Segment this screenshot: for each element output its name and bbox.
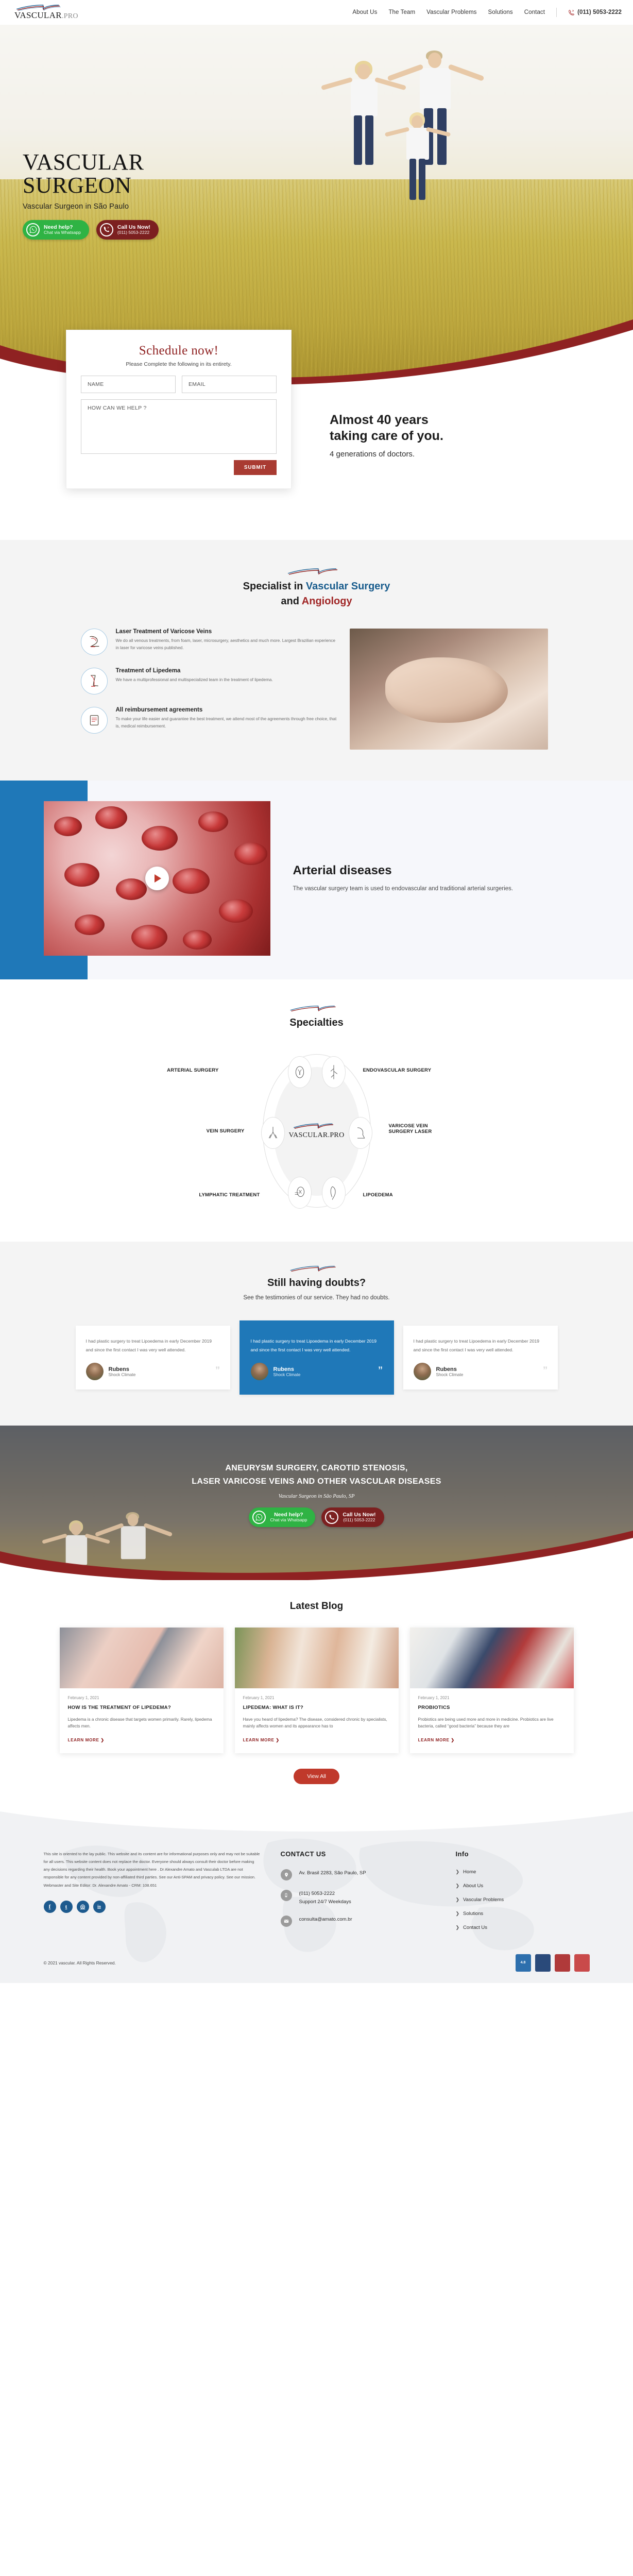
- testimonial-identity: Rubens Shock Climate: [436, 1366, 464, 1377]
- footer-disclaimer: This site is oriented to the lay public.…: [44, 1850, 260, 1889]
- specialty-node-lymphatic[interactable]: [288, 1177, 312, 1209]
- specialty-node-endovascular[interactable]: [322, 1056, 346, 1088]
- hero-title: VASCULAR SURGEON: [23, 151, 159, 197]
- specialties-swoosh-wrap: [0, 1005, 633, 1013]
- blog-card-date: February 1, 2021: [68, 1696, 215, 1700]
- footer-address: Av. Brasil 2283, São Paulo, SP: [299, 1869, 366, 1877]
- arterial-text: Arterial diseases The vascular surgery t…: [293, 863, 514, 893]
- blog-card[interactable]: February 1, 2021 LIPEDEMA: WHAT IS IT? H…: [235, 1628, 399, 1753]
- footer-link-about-us[interactable]: ❯About Us: [456, 1883, 559, 1889]
- arterial-title: Arterial diseases: [293, 863, 514, 878]
- testimonial-footer: Rubens Shock Climate ”: [414, 1363, 548, 1380]
- testimonials-carousel: I had plastic surgery to treat Lipoedema…: [70, 1320, 564, 1395]
- specialist-item-title: All reimbursement agreements: [116, 707, 337, 713]
- specialist-list: Laser Treatment of Varicose Veins We do …: [70, 629, 337, 746]
- specialty-label-varicose: VARICOSE VEIN SURGERY LASER: [389, 1123, 507, 1134]
- footer-phone-sub: Support 24/7 Weekdays: [299, 1898, 351, 1906]
- years-block: Almost 40 years taking care of you. 4 ge…: [330, 412, 443, 459]
- cta-bottom-curve: [0, 1524, 633, 1580]
- specialist-item-title: Treatment of Lipedema: [116, 668, 273, 674]
- header-phone-text: (011) 5053-2222: [577, 9, 622, 15]
- nav-item-vascular-problems[interactable]: Vascular Problems: [426, 9, 476, 15]
- years-heading-line2: taking care of you.: [330, 428, 443, 444]
- blog-card[interactable]: February 1, 2021 PROBIOTICS Probiotics a…: [410, 1628, 574, 1753]
- whatsapp-icon: [26, 223, 40, 236]
- wheel-center-logo: VASCULAR.PRO: [273, 1067, 360, 1196]
- quote-mark-icon: ”: [543, 1365, 548, 1378]
- facebook-icon[interactable]: f: [44, 1901, 56, 1913]
- specialist-heading-blue: Vascular Surgery: [306, 581, 390, 592]
- nav-item-solutions[interactable]: Solutions: [488, 9, 513, 15]
- whatsapp-button[interactable]: Need help? Chat via Whatsapp: [23, 220, 89, 240]
- cta-banner: ANEURYSM SURGERY, CAROTID STENOSIS, LASE…: [0, 1426, 633, 1580]
- phone-ringing-icon: [100, 223, 113, 236]
- specialist-item-reimbursement[interactable]: All reimbursement agreements To make you…: [81, 707, 337, 734]
- certification-seal-3: [574, 1954, 590, 1972]
- hero-family-photo: [334, 45, 551, 251]
- nav-divider: [556, 8, 557, 17]
- phone-ringing-icon: [325, 1511, 338, 1524]
- testimonial-footer: Rubens Shock Climate ”: [251, 1363, 383, 1380]
- whatsapp-button-labels: Need help? Chat via Whatsapp: [44, 224, 81, 235]
- blog-card-learn-more[interactable]: LEARN MORE ❯: [68, 1737, 105, 1742]
- whatsapp-icon: [252, 1511, 266, 1524]
- form-actions: SUBMIT: [81, 460, 277, 475]
- testimonials-subtitle: See the testimonies of our service. They…: [0, 1295, 633, 1301]
- footer-info-heading: Info: [456, 1850, 559, 1858]
- specialty-label-vein: VEIN SURGERY: [126, 1128, 245, 1134]
- swoosh-icon: [288, 1265, 345, 1274]
- specialty-node-arterial[interactable]: [288, 1056, 312, 1088]
- footer-info: Info ❯Home ❯About Us ❯Vascular Problems …: [456, 1850, 559, 1939]
- site-header: VASCULAR.PRO About Us The Team Vascular …: [0, 0, 633, 25]
- years-heading-line1: Almost 40 years: [330, 412, 443, 428]
- specialist-heading-line2: and Angiology: [0, 594, 633, 609]
- footer-email[interactable]: consulta@amato.com.br: [299, 1916, 352, 1924]
- mobile-icon: [281, 1890, 292, 1901]
- logo-text: VASCULAR.PRO: [14, 11, 78, 20]
- specialties-section: Specialties VASCULAR.PRO ARTERIAL SURGER…: [0, 979, 633, 1242]
- blog-card-body: February 1, 2021 LIPEDEMA: WHAT IS IT? H…: [235, 1688, 399, 1753]
- chevron-right-icon: ❯: [456, 1869, 460, 1875]
- cta-whatsapp-labels: Need help? Chat via Whatsapp: [270, 1512, 307, 1523]
- blog-card-body: February 1, 2021 PROBIOTICS Probiotics a…: [410, 1688, 574, 1753]
- blog-card-date: February 1, 2021: [418, 1696, 566, 1700]
- footer-contact: CONTACT US Av. Brasil 2283, São Paulo, S…: [281, 1850, 435, 1939]
- specialty-label-varicose-line1: VARICOSE VEIN: [389, 1123, 507, 1129]
- testimonial-quote: I had plastic surgery to treat Lipoedema…: [86, 1337, 220, 1354]
- testimonial-identity: Rubens Shock Climate: [273, 1366, 301, 1377]
- main-nav: About Us The Team Vascular Problems Solu…: [352, 8, 622, 17]
- cta-call-button[interactable]: Call Us Now! (011) 5053-2222: [321, 1507, 384, 1527]
- section-swoosh-wrap: [0, 568, 633, 577]
- specialty-label-endovascular: ENDOVASCULAR SURGERY: [363, 1067, 497, 1073]
- footer-link-home[interactable]: ❯Home: [456, 1869, 559, 1875]
- specialty-node-varicose[interactable]: [349, 1117, 372, 1149]
- blog-actions: View All: [0, 1769, 633, 1784]
- cta-subtitle: Vascular Surgeon in São Paulo, SP: [0, 1494, 633, 1499]
- blog-section: Latest Blog February 1, 2021 HOW IS THE …: [0, 1580, 633, 1806]
- cta-heading-line2: LASER VARICOSE VEINS AND OTHER VASCULAR …: [0, 1475, 633, 1488]
- footer-bottom: © 2021 vascular. All Rights Reserved. 4.…: [44, 1954, 590, 1983]
- lipedema-leg-icon: [81, 668, 108, 694]
- chevron-right-icon: ❯: [456, 1883, 460, 1889]
- submit-button[interactable]: SUBMIT: [234, 460, 277, 475]
- phone-ringing-icon: [568, 9, 575, 16]
- agreement-icon: [81, 707, 108, 734]
- nav-item-the-team[interactable]: The Team: [388, 9, 415, 15]
- testimonial-role: Shock Climate: [273, 1372, 301, 1377]
- email-input[interactable]: EMAIL: [182, 376, 277, 393]
- specialty-label-lipoedema: LIPOEDEMA: [363, 1192, 466, 1198]
- cta-whatsapp-button[interactable]: Need help? Chat via Whatsapp: [249, 1507, 315, 1527]
- call-button[interactable]: Call Us Now! (011) 5053-2222: [96, 220, 159, 240]
- play-icon[interactable]: [145, 867, 169, 890]
- blog-card[interactable]: February 1, 2021 HOW IS THE TREATMENT OF…: [60, 1628, 224, 1753]
- avatar: [86, 1363, 104, 1380]
- blog-card-learn-more[interactable]: LEARN MORE ❯: [243, 1737, 280, 1742]
- footer-seals: 4.8: [516, 1954, 590, 1972]
- footer-contact-heading: CONTACT US: [281, 1850, 435, 1858]
- logo[interactable]: VASCULAR.PRO: [11, 5, 89, 20]
- message-textarea[interactable]: HOW CAN WE HELP ?: [81, 399, 277, 454]
- hero-title-line2: SURGEON: [23, 174, 159, 197]
- call-button-labels: Call Us Now! (011) 5053-2222: [117, 224, 150, 235]
- hero-subtitle: Vascular Surgeon in São Paulo: [23, 202, 159, 211]
- arterial-desc: The vascular surgery team is used to end…: [293, 884, 514, 893]
- whatsapp-button-line2: Chat via Whatsapp: [44, 230, 81, 235]
- specialties-title: Specialties: [0, 1015, 633, 1030]
- specialist-heading-and: and: [281, 596, 301, 607]
- cta-whatsapp-line2: Chat via Whatsapp: [270, 1518, 307, 1523]
- specialist-item-desc: We do all venous treatments, from foam, …: [116, 637, 337, 651]
- blog-card-title: HOW IS THE TREATMENT OF LIPEDEMA?: [68, 1704, 215, 1711]
- page-root: VASCULAR.PRO About Us The Team Vascular …: [0, 0, 633, 1983]
- testimonial-name: Rubens: [436, 1366, 464, 1372]
- specialist-item-desc: We have a multiprofessional and multispe…: [116, 676, 273, 684]
- specialty-node-vein[interactable]: [261, 1117, 285, 1149]
- arterial-inner: Arterial diseases The vascular surgery t…: [44, 801, 590, 956]
- specialty-label-lymphatic: LYMPHATIC TREATMENT: [116, 1192, 260, 1198]
- certification-seal-2: [555, 1954, 570, 1972]
- footer-link-vascular-problems[interactable]: ❯Vascular Problems: [456, 1897, 559, 1903]
- cta-whatsapp-line1: Need help?: [270, 1512, 307, 1518]
- form-subtitle: Please Complete the following in its ent…: [81, 361, 277, 367]
- testimonial-card-active[interactable]: I had plastic surgery to treat Lipoedema…: [239, 1320, 394, 1395]
- certification-seal-1: [535, 1954, 551, 1972]
- chevron-right-icon: ❯: [456, 1925, 460, 1930]
- schedule-form: Schedule now! Please Complete the follow…: [66, 330, 292, 489]
- blog-card-excerpt: Lipedema is a chronic disease that targe…: [68, 1716, 215, 1730]
- testimonial-quote: I had plastic surgery to treat Lipoedema…: [251, 1337, 383, 1354]
- footer-email-row: consulta@amato.com.br: [281, 1916, 435, 1927]
- cta-call-labels: Call Us Now! (011) 5053-2222: [343, 1512, 375, 1523]
- site-footer: This site is oriented to the lay public.…: [0, 1807, 633, 1983]
- testimonial-name: Rubens: [273, 1366, 301, 1372]
- years-sub: 4 generations of doctors.: [330, 450, 443, 459]
- chevron-right-icon: ❯: [456, 1897, 460, 1903]
- header-phone-link[interactable]: (011) 5053-2222: [568, 9, 622, 16]
- footer-link-contact-us[interactable]: ❯Contact Us: [456, 1925, 559, 1930]
- chevron-right-icon: ❯: [456, 1911, 460, 1917]
- specialist-item-text-reimbursement: All reimbursement agreements To make you…: [116, 707, 337, 734]
- testimonials-section: Still having doubts? See the testimonies…: [0, 1242, 633, 1426]
- footer-address-row: Av. Brasil 2283, São Paulo, SP: [281, 1869, 435, 1880]
- cta-content: ANEURYSM SURGERY, CAROTID STENOSIS, LASE…: [0, 1426, 633, 1527]
- blog-card-date: February 1, 2021: [243, 1696, 390, 1700]
- testimonial-name: Rubens: [109, 1366, 136, 1372]
- testimonial-card[interactable]: I had plastic surgery to treat Lipoedema…: [76, 1326, 230, 1389]
- view-all-button[interactable]: View All: [294, 1769, 339, 1784]
- footer-phone-block: (011) 5053-2222 Support 24/7 Weekdays: [299, 1890, 351, 1906]
- specialist-item-text-lipedema: Treatment of Lipedema We have a multipro…: [116, 668, 273, 694]
- testimonial-identity: Rubens Shock Climate: [109, 1366, 136, 1377]
- specialist-heading-red: Angiology: [302, 596, 352, 607]
- testimonial-quote: I had plastic surgery to treat Lipoedema…: [414, 1337, 548, 1354]
- specialist-item-text-laser: Laser Treatment of Varicose Veins We do …: [116, 629, 337, 655]
- arterial-section: Arterial diseases The vascular surgery t…: [0, 781, 633, 979]
- blog-title: Latest Blog: [0, 1601, 633, 1612]
- specialist-item-lipedema[interactable]: Treatment of Lipedema We have a multipro…: [81, 668, 337, 694]
- testimonials-title: Still having doubts?: [0, 1276, 633, 1291]
- rating-seal: 4.8: [516, 1954, 531, 1972]
- specialist-item-title: Laser Treatment of Varicose Veins: [116, 629, 337, 635]
- cta-call-line1: Call Us Now!: [343, 1512, 375, 1518]
- specialist-image: [350, 629, 548, 750]
- testimonial-role: Shock Climate: [109, 1372, 136, 1377]
- linkedin-icon[interactable]: in: [93, 1901, 106, 1913]
- blog-card-learn-more[interactable]: LEARN MORE ❯: [418, 1737, 455, 1742]
- quote-mark-icon: ”: [379, 1365, 383, 1378]
- cta-heading-line1: ANEURYSM SURGERY, CAROTID STENOSIS,: [0, 1462, 633, 1475]
- specialty-node-lipoedema[interactable]: [322, 1177, 346, 1209]
- avatar: [414, 1363, 431, 1380]
- wheel-center-text: VASCULAR.PRO: [289, 1131, 345, 1140]
- twitter-icon[interactable]: t: [60, 1901, 73, 1913]
- blog-card-list: February 1, 2021 HOW IS THE TREATMENT OF…: [57, 1628, 577, 1753]
- hero-copy: VASCULAR SURGEON Vascular Surgeon in São…: [23, 151, 159, 240]
- specialist-item-desc: To make your life easier and guarantee t…: [116, 716, 337, 730]
- specialist-heading-pre: Specialist in: [243, 581, 306, 592]
- instagram-icon[interactable]: ◎: [77, 1901, 89, 1913]
- hero-cta-buttons: Need help? Chat via Whatsapp Call Us Now…: [23, 220, 159, 240]
- specialist-body: Laser Treatment of Varicose Veins We do …: [70, 629, 564, 750]
- blog-card-image: [60, 1628, 224, 1688]
- footer-phone[interactable]: (011) 5053-2222: [299, 1890, 351, 1898]
- specialist-heading-line1: Specialist in Vascular Surgery: [0, 579, 633, 594]
- blog-card-title: PROBIOTICS: [418, 1704, 566, 1711]
- testimonials-swoosh-wrap: [0, 1265, 633, 1274]
- name-input[interactable]: NAME: [81, 376, 176, 393]
- form-title: Schedule now!: [81, 344, 277, 358]
- avatar: [251, 1363, 268, 1380]
- swoosh-icon: [288, 1005, 345, 1013]
- footer-about: This site is oriented to the lay public.…: [44, 1850, 260, 1939]
- nav-item-about-us[interactable]: About Us: [352, 9, 377, 15]
- footer-social-links: f t ◎ in: [44, 1901, 260, 1913]
- blog-card-image: [410, 1628, 574, 1688]
- specialist-item-laser[interactable]: Laser Treatment of Varicose Veins We do …: [81, 629, 337, 655]
- specialist-section: Specialist in Vascular Surgery and Angio…: [0, 540, 633, 781]
- years-heading: Almost 40 years taking care of you.: [330, 412, 443, 445]
- swoosh-icon: [286, 568, 348, 577]
- blog-card-excerpt: Have you heard of lipedema? The disease,…: [243, 1716, 390, 1730]
- specialty-label-arterial: ARTERIAL SURGERY: [126, 1067, 219, 1073]
- specialist-heading: Specialist in Vascular Surgery and Angio…: [0, 579, 633, 609]
- blog-card-excerpt: Probiotics are being used more and more …: [418, 1716, 566, 1730]
- testimonial-footer: Rubens Shock Climate ”: [86, 1363, 220, 1380]
- cta-buttons: Need help? Chat via Whatsapp Call Us Now…: [0, 1507, 633, 1527]
- arterial-video[interactable]: [44, 801, 270, 956]
- logo-swoosh-icon: [292, 1123, 341, 1130]
- copyright: © 2021 vascular. All Rights Reserved.: [44, 1960, 116, 1965]
- footer-columns: This site is oriented to the lay public.…: [44, 1836, 590, 1939]
- specialty-label-varicose-line2: SURGERY LASER: [389, 1129, 507, 1134]
- hero-title-line1: VASCULAR: [23, 151, 159, 174]
- specialties-wheel: VASCULAR.PRO ARTERIAL SURGERY ENDOVASCUL…: [95, 1054, 538, 1209]
- quote-mark-icon: ”: [216, 1365, 220, 1378]
- testimonial-card[interactable]: I had plastic surgery to treat Lipoedema…: [403, 1326, 558, 1389]
- cta-heading: ANEURYSM SURGERY, CAROTID STENOSIS, LASE…: [0, 1462, 633, 1488]
- nav-item-contact[interactable]: Contact: [524, 9, 545, 15]
- form-row-name-email: NAME EMAIL: [81, 376, 277, 393]
- cta-call-line2: (011) 5053-2222: [343, 1518, 375, 1523]
- envelope-icon: [281, 1916, 292, 1927]
- footer-phone-row: (011) 5053-2222 Support 24/7 Weekdays: [281, 1890, 435, 1906]
- blog-card-body: February 1, 2021 HOW IS THE TREATMENT OF…: [60, 1688, 224, 1753]
- blog-card-title: LIPEDEMA: WHAT IS IT?: [243, 1704, 390, 1711]
- testimonial-role: Shock Climate: [436, 1372, 464, 1377]
- blog-card-image: [235, 1628, 399, 1688]
- varicose-leg-icon: [81, 629, 108, 655]
- call-button-line2: (011) 5053-2222: [117, 230, 150, 235]
- footer-link-solutions[interactable]: ❯Solutions: [456, 1911, 559, 1917]
- map-pin-icon: [281, 1869, 292, 1880]
